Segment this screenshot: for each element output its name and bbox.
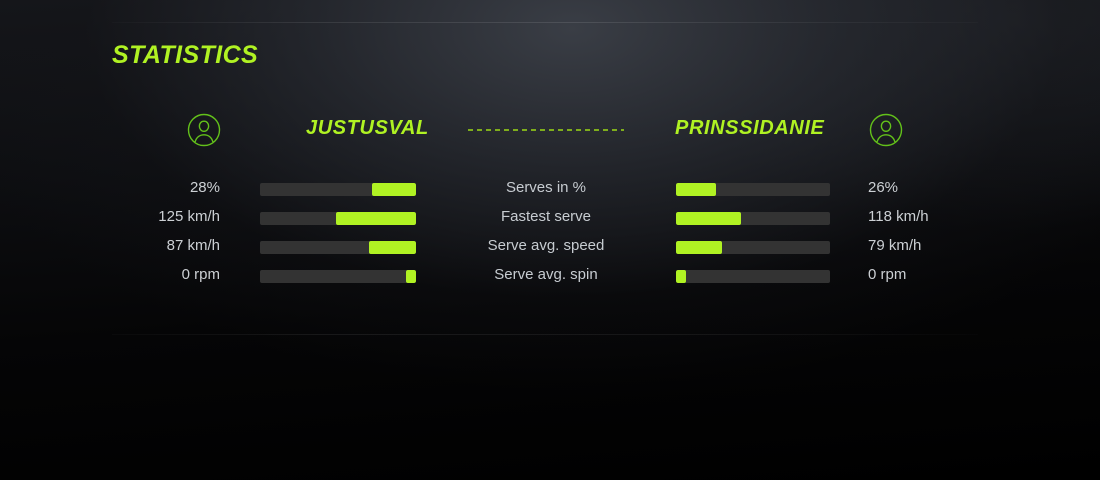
stat-label: Serve avg. spin [424,266,668,283]
players-header-row: JUSTUSVAL PRINSSIDANIE [112,110,978,152]
stat-value-left: 28% [112,179,220,196]
stat-bar-left [260,212,416,225]
statistics-table: 28%Serves in %26%125 km/hFastest serve11… [112,176,978,292]
stat-row: 28%Serves in %26% [112,176,978,205]
stat-value-right: 0 rpm [868,266,978,283]
stat-row: 87 km/hServe avg. speed79 km/h [112,234,978,263]
person-avatar-icon [184,110,224,150]
bottom-divider-rule [112,334,978,335]
stat-bar-right [676,241,830,254]
top-divider-rule [112,22,978,23]
person-avatar-icon [866,110,906,150]
dashed-divider-icon [468,129,624,131]
stat-row: 0 rpmServe avg. spin0 rpm [112,263,978,292]
stat-bar-right [676,212,830,225]
stat-value-left: 0 rpm [112,266,220,283]
stat-value-left: 125 km/h [112,208,220,225]
player-name-left: JUSTUSVAL [306,117,429,140]
stat-value-right: 26% [868,179,978,196]
stat-bar-left [260,270,416,283]
stat-row: 125 km/hFastest serve118 km/h [112,205,978,234]
stat-label: Serves in % [424,179,668,196]
page-title: STATISTICS [112,41,258,70]
stat-bar-left [260,241,416,254]
stat-bar-right [676,183,830,196]
stat-value-right: 118 km/h [868,208,978,225]
stat-label: Serve avg. speed [424,237,668,254]
stat-value-left: 87 km/h [112,237,220,254]
stat-bar-right [676,270,830,283]
stat-value-right: 79 km/h [868,237,978,254]
statistics-panel: STATISTICS JUSTUSVAL PRINSSIDANIE 28%Ser… [0,0,1100,480]
stat-bar-left [260,183,416,196]
player-name-right: PRINSSIDANIE [675,117,824,140]
stat-label: Fastest serve [424,208,668,225]
